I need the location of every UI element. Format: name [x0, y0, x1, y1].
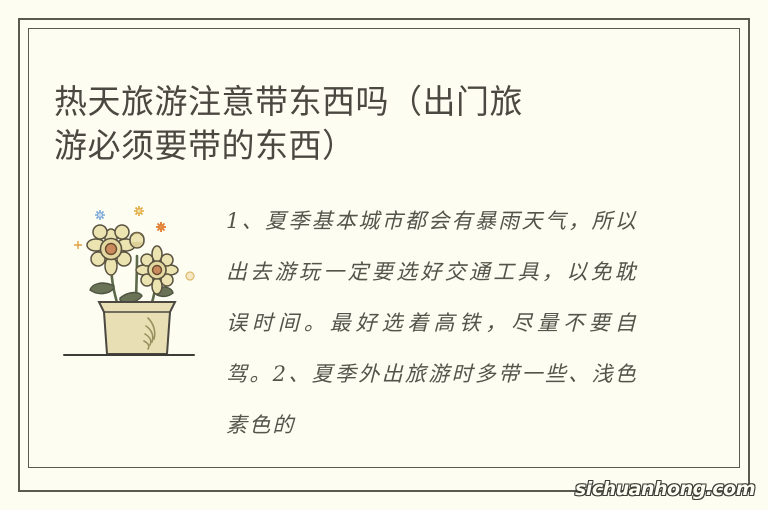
flower-bud-icon: [130, 233, 144, 249]
flower-vase-icon: [62, 194, 212, 374]
sparkle-gold-icon: [134, 206, 144, 216]
sparkle-blue-icon: [95, 210, 105, 220]
sparkle-amber-small-icon: [74, 241, 82, 249]
sparkle-orange-icon: [156, 222, 166, 232]
article-content-row: 1、夏季基本城市都会有暴雨天气，所以出去游玩一定要选好交通工具，以免耽误时间。最…: [0, 192, 768, 472]
page-title-line-1: 热天旅游注意带东西吗（出门旅: [54, 82, 523, 121]
sunflower-right-icon: [136, 246, 178, 294]
page-title-line-2: 游必须要带的东西）: [54, 126, 356, 165]
site-watermark: sichuanhong.com: [575, 477, 760, 501]
vase-icon: [99, 302, 175, 354]
article-body: 1、夏季基本城市都会有暴雨天气，所以出去游玩一定要选好交通工具，以免耽误时间。最…: [226, 196, 638, 458]
article-page: 热天旅游注意带东西吗（出门旅游必须要带的东西）: [0, 0, 768, 510]
sunflower-left-icon: [87, 222, 135, 275]
sparkle-pale-dot-icon: [186, 272, 194, 280]
page-title: 热天旅游注意带东西吗（出门旅游必须要带的东西）: [54, 80, 684, 168]
